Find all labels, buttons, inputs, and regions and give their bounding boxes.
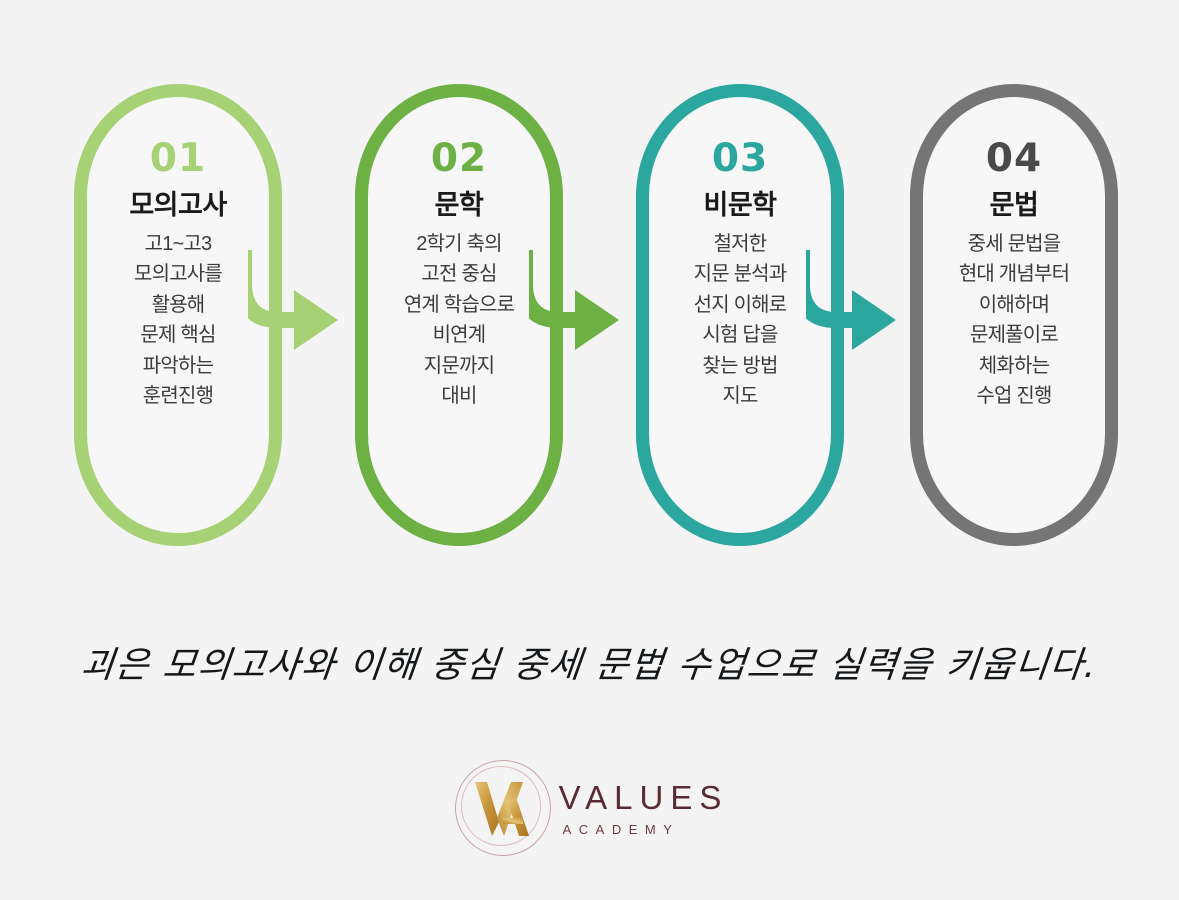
step-title: 비문학: [703, 190, 776, 221]
step-desc-line: 문제 핵심: [134, 320, 222, 350]
step-desc-line: 파악하는: [134, 351, 222, 381]
step-number: 02: [431, 139, 487, 178]
steps-row: 01 모의고사 고1~고3 모의고사를 활용해 문제 핵심 파악하는 훈련진행 …: [0, 84, 1179, 546]
infographic-page: 01 모의고사 고1~고3 모의고사를 활용해 문제 핵심 파악하는 훈련진행 …: [0, 0, 1179, 900]
step-number: 01: [150, 139, 206, 178]
logo-monogram-mark: [451, 756, 555, 860]
step-desc-line: 대비: [404, 381, 514, 411]
step-description: 고1~고3 모의고사를 활용해 문제 핵심 파악하는 훈련진행: [130, 229, 226, 411]
step-desc-line: 비연계: [404, 320, 514, 350]
logo-wordmark: VALUES ACADEMY: [559, 781, 729, 836]
step-desc-line: 고전 중심: [404, 259, 514, 289]
step-desc-line: 지문까지: [404, 351, 514, 381]
step-title: 문학: [435, 190, 484, 221]
step-desc-line: 지문 분석과: [694, 259, 787, 289]
step-description: 철저한 지문 분석과 선지 이해로 시험 답을 찾는 방법 지도: [690, 229, 791, 411]
logo-subtitle: ACADEMY: [563, 823, 729, 836]
step-desc-line: 선지 이해로: [694, 290, 787, 320]
step-desc-line: 현대 개념부터: [959, 259, 1069, 289]
logo-va-monogram-icon: [451, 756, 555, 860]
step-desc-line: 중세 문법을: [959, 229, 1069, 259]
step-description: 중세 문법을 현대 개념부터 이해하며 문제풀이로 체화하는 수업 진행: [955, 229, 1073, 411]
step-desc-line: 찾는 방법: [694, 351, 787, 381]
step-desc-line: 연계 학습으로: [404, 290, 514, 320]
step-desc-line: 수업 진행: [959, 381, 1069, 411]
step-desc-line: 체화하는: [959, 351, 1069, 381]
step-number: 04: [986, 139, 1042, 178]
step-desc-line: 문제풀이로: [959, 320, 1069, 350]
step-card-04: 04 문법 중세 문법을 현대 개념부터 이해하며 문제풀이로 체화하는 수업 …: [910, 84, 1118, 546]
logo-name: VALUES: [559, 781, 729, 814]
arrow-step2-to-step3-icon: [529, 250, 625, 368]
step-desc-line: 이해하며: [959, 290, 1069, 320]
brand-logo: VALUES ACADEMY: [0, 756, 1179, 860]
step-desc-line: 고1~고3: [134, 229, 222, 259]
arrow-step1-to-step2-icon: [248, 250, 344, 368]
step-title: 문법: [990, 190, 1039, 221]
step-desc-line: 활용해: [134, 290, 222, 320]
step-desc-line: 모의고사를: [134, 259, 222, 289]
step-desc-line: 2학기 축의: [404, 229, 514, 259]
step-desc-line: 지도: [694, 381, 787, 411]
step-number: 03: [712, 139, 768, 178]
step-title: 모의고사: [129, 190, 226, 221]
step-desc-line: 훈련진행: [134, 381, 222, 411]
step-desc-line: 철저한: [694, 229, 787, 259]
step-description: 2학기 축의 고전 중심 연계 학습으로 비연계 지문까지 대비: [400, 229, 518, 411]
tagline: 괴은 모의고사와 이해 중심 중세 문법 수업으로 실력을 키웁니다.: [0, 636, 1179, 688]
step-desc-line: 시험 답을: [694, 320, 787, 350]
arrow-step3-to-step4-icon: [806, 250, 902, 368]
